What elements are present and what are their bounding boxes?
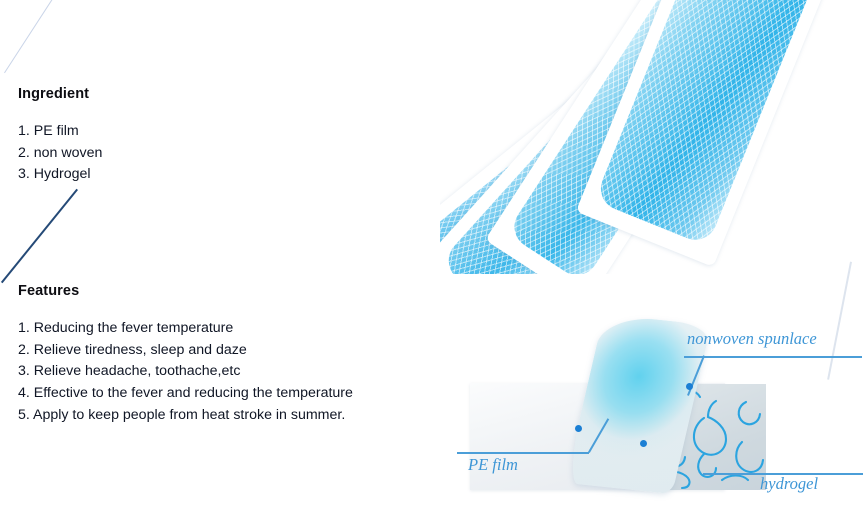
features-section: Features 1. Reducing the fever temperatu… [18, 283, 353, 427]
leader-rule-hydrogel [703, 473, 863, 475]
ingredient-heading: Ingredient [18, 86, 102, 102]
leader-rule-nonwoven [684, 356, 862, 358]
list-item: 5. Apply to keep people from heat stroke… [18, 405, 353, 427]
list-item: 3. Hydrogel [18, 164, 102, 186]
cooling-gel-patch-strips-photo [440, 0, 865, 274]
list-item: 3. Relieve headache, toothache,etc [18, 361, 353, 383]
list-item: 1. Reducing the fever temperature [18, 318, 353, 340]
label-nonwoven-spunlace: nonwoven spunlace [687, 329, 817, 349]
leader-dot-pe-film [575, 425, 582, 432]
layer-structure-diagram: nonwoven spunlace PE film hydrogel [440, 300, 865, 510]
features-list: 1. Reducing the fever temperature 2. Rel… [18, 318, 353, 427]
leader-rule-pe-film [457, 452, 589, 454]
leader-dot-nonwoven [686, 383, 693, 390]
ingredient-section: Ingredient 1. PE film 2. non woven 3. Hy… [18, 86, 102, 186]
decorative-diagonal-line-top-left [4, 0, 55, 73]
product-info-page: Ingredient 1. PE film 2. non woven 3. Hy… [0, 0, 865, 510]
ingredient-list: 1. PE film 2. non woven 3. Hydrogel [18, 121, 102, 186]
decorative-diagonal-line-left [1, 189, 78, 283]
list-item: 2. Relieve tiredness, sleep and daze [18, 340, 353, 362]
label-pe-film: PE film [468, 455, 518, 475]
list-item: 1. PE film [18, 121, 102, 143]
features-heading: Features [18, 283, 353, 299]
leader-dot-hydrogel [640, 440, 647, 447]
label-hydrogel: hydrogel [760, 474, 818, 494]
list-item: 2. non woven [18, 143, 102, 165]
list-item: 4. Effective to the fever and reducing t… [18, 383, 353, 405]
